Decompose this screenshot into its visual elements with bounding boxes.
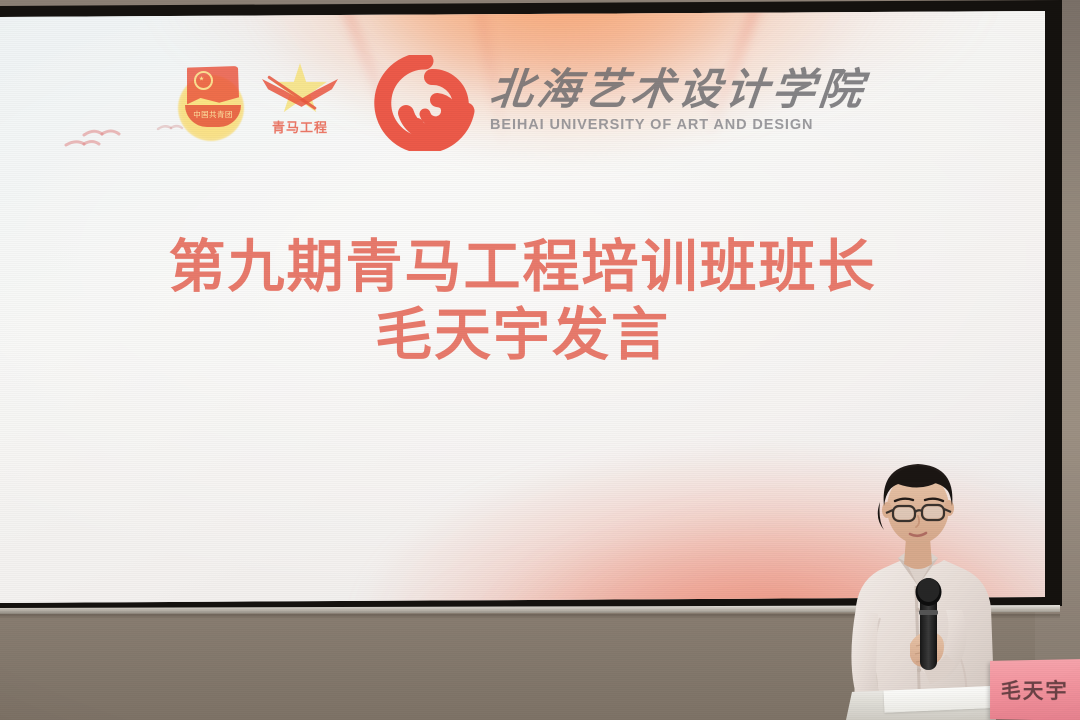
- university-name-cn: 北海艺术设计学院: [488, 69, 869, 112]
- emblem-ribbon-label: 中国共青团: [185, 109, 241, 120]
- nameplate-label: 毛天宇: [1001, 675, 1069, 706]
- slide-title-line-1: 第九期青马工程培训班班长: [0, 237, 1045, 297]
- communist-youth-league-emblem-icon: 中国共青团: [176, 61, 250, 145]
- slide-title: 第九期青马工程培训班班长 毛天宇发言: [0, 237, 1045, 372]
- qingma-logo-label: 青马工程: [256, 117, 344, 136]
- nameplate: 毛天宇: [990, 659, 1080, 720]
- emblem-star-icon: [194, 71, 213, 90]
- university-name-en: BEIHAI UNIVERSITY OF ART AND DESIGN: [490, 117, 866, 133]
- flying-birds-icon: [62, 107, 192, 155]
- slide-title-line-2: 毛天宇发言: [0, 297, 1045, 372]
- university-name-block: 北海艺术设计学院 BEIHAI UNIVERSITY OF ART AND DE…: [490, 69, 866, 133]
- university-spiral-logo-icon: [370, 55, 480, 151]
- presentation-photo: 中国共青团 青马工程: [0, 0, 1080, 720]
- slide-logo-row: 中国共青团 青马工程: [176, 55, 866, 151]
- qingma-project-logo-icon: 青马工程: [256, 61, 344, 145]
